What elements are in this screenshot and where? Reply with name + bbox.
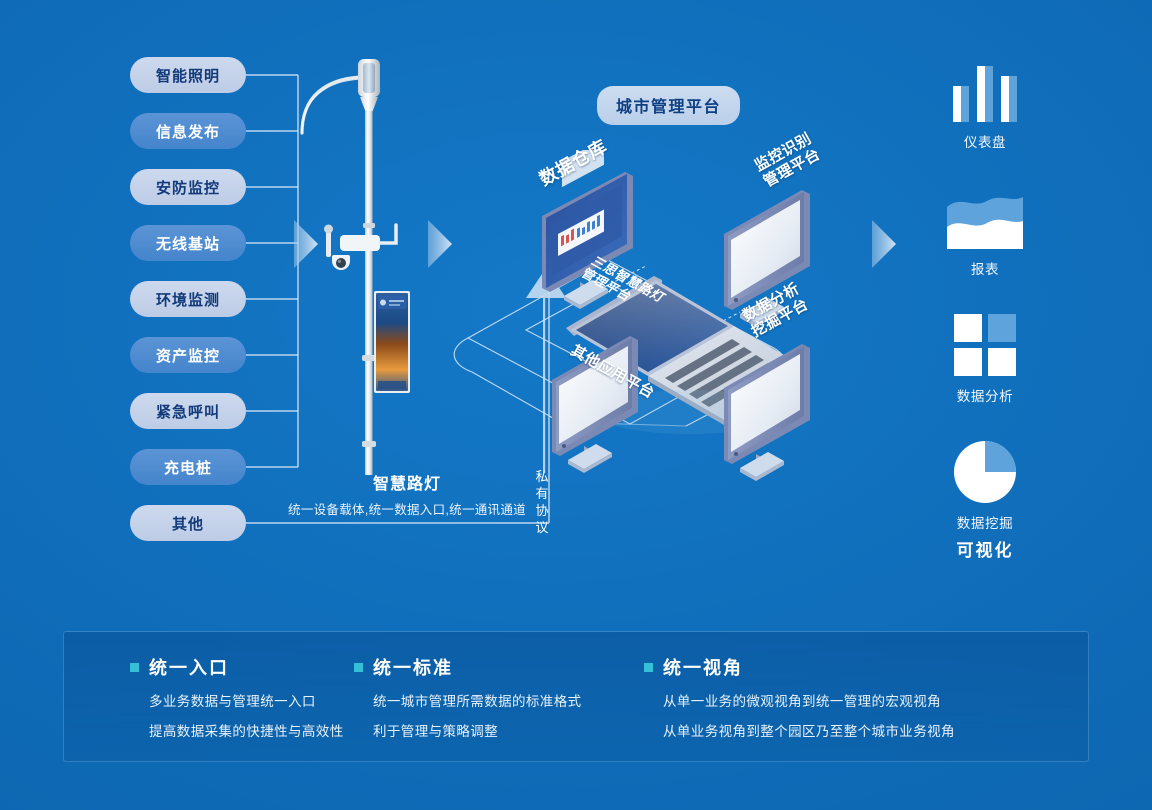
viz-item-dashboard[interactable]: 仪表盘 [930, 60, 1040, 151]
function-pill-environment[interactable]: 环境监测 [130, 281, 246, 317]
benefit-line: 多业务数据与管理统一入口 [149, 690, 354, 710]
isometric-platform-scene: 数据仓库 监控识别 管理平台 三思智慧路灯 管理平台 其他应用平台 数据分析 挖… [440, 150, 920, 490]
bullet-square-icon [644, 663, 653, 672]
benefit-column-unified-view: 统一视角 从单一业务的微观视角到统一管理的宏观视角 从单业务视角到整个园区乃至整… [644, 632, 1024, 761]
city-management-platform-badge[interactable]: 城市管理平台 [597, 86, 740, 125]
function-pill-list: 智能照明 信息发布 安防监控 无线基站 环境监测 资产监控 紧急呼叫 充电桩 其… [130, 57, 246, 561]
function-pill-label: 智能照明 [156, 65, 220, 86]
function-pill-asset-monitor[interactable]: 资产监控 [130, 337, 246, 373]
viz-item-label: 报表 [930, 258, 1040, 278]
viz-item-report[interactable]: 报表 [930, 187, 1040, 278]
function-pill-label: 充电桩 [164, 457, 212, 478]
bar-chart-icon [930, 60, 1040, 122]
area-chart-icon [930, 187, 1040, 249]
function-pill-label: 其他 [172, 513, 204, 534]
function-pill-wireless-station[interactable]: 无线基站 [130, 225, 246, 261]
visualization-icon-column: 仪表盘 报表 数据分析 数据挖掘 [930, 60, 1040, 561]
function-pill-info-release[interactable]: 信息发布 [130, 113, 246, 149]
viz-item-label: 数据分析 [930, 385, 1040, 405]
bullet-square-icon [130, 663, 139, 672]
viz-item-mining[interactable]: 数据挖掘 [930, 441, 1040, 532]
function-pill-label: 无线基站 [156, 233, 220, 254]
benefit-title: 统一标准 [373, 654, 453, 680]
iso-svg [440, 150, 920, 490]
function-pill-label: 环境监测 [156, 289, 220, 310]
viz-item-label: 仪表盘 [930, 131, 1040, 151]
function-pill-emergency-call[interactable]: 紧急呼叫 [130, 393, 246, 429]
benefit-column-unified-standard: 统一标准 统一城市管理所需数据的标准格式 利于管理与策略调整 [354, 632, 644, 761]
streetlight-subtitle: 统一设备载体,统一数据入口,统一通讯通道 [252, 499, 562, 518]
bottom-benefits-panel: 统一入口 多业务数据与管理统一入口 提高数据采集的快捷性与高效性 统一标准 统一… [63, 631, 1089, 762]
viz-item-label: 数据挖掘 [930, 512, 1040, 532]
benefit-heading: 统一视角 [644, 654, 1024, 680]
benefit-heading: 统一标准 [354, 654, 644, 680]
benefit-heading: 统一入口 [130, 654, 354, 680]
function-pill-label: 资产监控 [156, 345, 220, 366]
pie-chart-icon [930, 441, 1040, 503]
function-pill-smart-lighting[interactable]: 智能照明 [130, 57, 246, 93]
visualization-footer-label: 可视化 [930, 536, 1040, 561]
benefit-column-unified-entry: 统一入口 多业务数据与管理统一入口 提高数据采集的快捷性与高效性 [64, 632, 354, 761]
function-pill-label: 紧急呼叫 [156, 401, 220, 422]
function-pill-other[interactable]: 其他 [130, 505, 246, 541]
viz-item-analysis[interactable]: 数据分析 [930, 314, 1040, 405]
grid-squares-icon [930, 314, 1040, 376]
benefit-line: 利于管理与策略调整 [373, 720, 644, 740]
benefit-line: 从单一业务的微观视角到统一管理的宏观视角 [663, 690, 1024, 710]
benefit-title: 统一视角 [663, 654, 743, 680]
function-pill-security-monitor[interactable]: 安防监控 [130, 169, 246, 205]
benefit-title: 统一入口 [149, 654, 229, 680]
function-pill-charging-pile[interactable]: 充电桩 [130, 449, 246, 485]
benefit-line: 统一城市管理所需数据的标准格式 [373, 690, 644, 710]
smart-streetlight-illustration [296, 55, 426, 475]
function-pill-label: 安防监控 [156, 177, 220, 198]
bullet-square-icon [354, 663, 363, 672]
benefit-line: 从单业务视角到整个园区乃至整个城市业务视角 [663, 720, 1024, 740]
benefit-line: 提高数据采集的快捷性与高效性 [149, 720, 354, 740]
function-pill-label: 信息发布 [156, 121, 220, 142]
